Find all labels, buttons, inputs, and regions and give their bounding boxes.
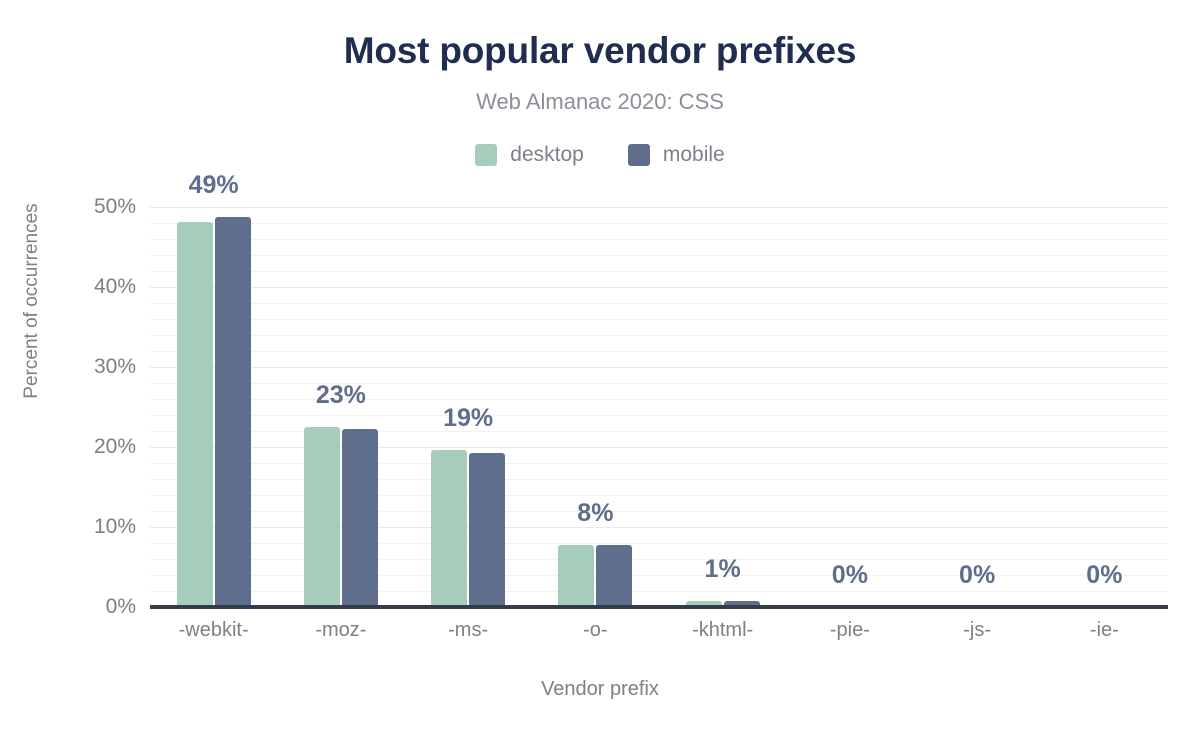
x-axis-tick-label: -js- (963, 619, 991, 642)
x-axis-baseline (150, 605, 1168, 609)
y-axis-tick-label: 50% (46, 195, 136, 219)
gridline-minor (150, 495, 1168, 496)
y-axis-tick-label: 0% (46, 595, 136, 619)
gridline-minor (150, 591, 1168, 592)
bar-desktop[interactable] (431, 450, 467, 607)
data-label: 23% (316, 381, 366, 410)
bar-mobile[interactable] (596, 545, 632, 607)
x-axis-tick-label: -moz- (315, 619, 366, 642)
legend-item-desktop[interactable]: desktop (475, 143, 584, 167)
bar-mobile[interactable] (469, 453, 505, 607)
x-axis-tick-label: -ms- (448, 619, 488, 642)
data-label: 8% (577, 499, 613, 528)
data-label: 49% (189, 171, 239, 200)
bar-chart: Most popular vendor prefixes Web Almanac… (0, 0, 1200, 742)
gridline-minor (150, 239, 1168, 240)
gridline-minor (150, 271, 1168, 272)
gridline-minor (150, 255, 1168, 256)
gridline-minor (150, 415, 1168, 416)
gridline-minor (150, 303, 1168, 304)
gridline-major (150, 447, 1168, 448)
gridline-minor (150, 543, 1168, 544)
legend-swatch-mobile (628, 144, 650, 166)
legend-swatch-desktop (475, 144, 497, 166)
y-axis-tick-label: 20% (46, 435, 136, 459)
plot-area (150, 207, 1168, 607)
legend-label-desktop: desktop (510, 143, 584, 167)
data-label: 1% (705, 555, 741, 584)
gridline-major (150, 207, 1168, 208)
legend-label-mobile: mobile (663, 143, 725, 167)
y-axis-title: Percent of occurrences (21, 61, 43, 541)
gridline-minor (150, 351, 1168, 352)
data-label: 0% (1086, 561, 1122, 590)
y-axis-tick-label: 10% (46, 515, 136, 539)
chart-legend: desktop mobile (0, 143, 1200, 167)
gridline-minor (150, 463, 1168, 464)
x-axis-tick-label: -ie- (1090, 619, 1119, 642)
gridline-minor (150, 223, 1168, 224)
x-axis-tick-label: -webkit- (179, 619, 249, 642)
gridline-minor (150, 479, 1168, 480)
gridline-minor (150, 383, 1168, 384)
gridline-major (150, 367, 1168, 368)
x-axis-tick-label: -pie- (830, 619, 870, 642)
bar-desktop[interactable] (177, 222, 213, 607)
x-axis-tick-label: -khtml- (692, 619, 753, 642)
chart-title: Most popular vendor prefixes (0, 30, 1200, 72)
x-axis-tick-label: -o- (583, 619, 607, 642)
chart-subtitle: Web Almanac 2020: CSS (0, 89, 1200, 115)
gridline-major (150, 527, 1168, 528)
x-axis-title: Vendor prefix (0, 678, 1200, 701)
gridline-minor (150, 559, 1168, 560)
bar-desktop[interactable] (558, 545, 594, 607)
data-label: 0% (959, 561, 995, 590)
legend-item-mobile[interactable]: mobile (628, 143, 725, 167)
gridline-minor (150, 399, 1168, 400)
gridline-minor (150, 335, 1168, 336)
y-axis-tick-label: 40% (46, 275, 136, 299)
bar-mobile[interactable] (215, 217, 251, 607)
data-label: 0% (832, 561, 868, 590)
bar-mobile[interactable] (342, 429, 378, 607)
bar-desktop[interactable] (304, 427, 340, 607)
gridline-major (150, 287, 1168, 288)
gridline-minor (150, 511, 1168, 512)
gridline-minor (150, 431, 1168, 432)
gridline-minor (150, 319, 1168, 320)
y-axis-tick-label: 30% (46, 355, 136, 379)
gridline-minor (150, 575, 1168, 576)
data-label: 19% (443, 404, 493, 433)
